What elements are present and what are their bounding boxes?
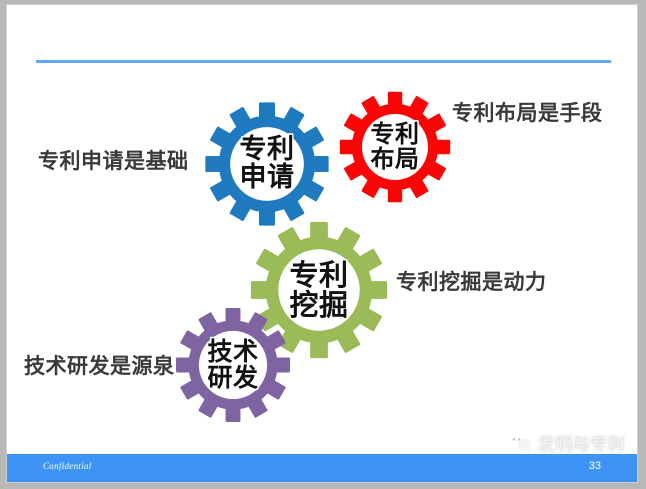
footer-page-number: 33 <box>589 460 601 472</box>
gear-patent-layout[interactable]: 专利 布局 <box>335 87 455 207</box>
wechat-bubbles-icon <box>507 432 533 454</box>
gear-patent-application[interactable]: 专利 申请 <box>200 97 334 231</box>
gear-purple-icon <box>171 303 295 427</box>
gear-blue-icon <box>200 97 334 231</box>
callout-technology-rd: 技术研发是源泉 <box>24 350 175 380</box>
watermark-text: 发明与专利 <box>538 430 626 455</box>
footer-bar: Confidential 33 <box>7 454 637 482</box>
watermark: 发明与专利 <box>507 430 626 455</box>
callout-patent-application: 专利申请是基础 <box>38 145 189 175</box>
callout-patent-mining: 专利挖掘是动力 <box>396 266 547 296</box>
gear-red-icon <box>335 87 455 207</box>
callout-patent-layout: 专利布局是手段 <box>452 97 603 127</box>
slide-canvas: 专利 申请 <box>6 4 638 483</box>
gear-technology-rd[interactable]: 技术 研发 <box>171 303 295 427</box>
header-divider-rule <box>36 60 611 63</box>
footer-confidential-label: Confidential <box>43 461 92 471</box>
